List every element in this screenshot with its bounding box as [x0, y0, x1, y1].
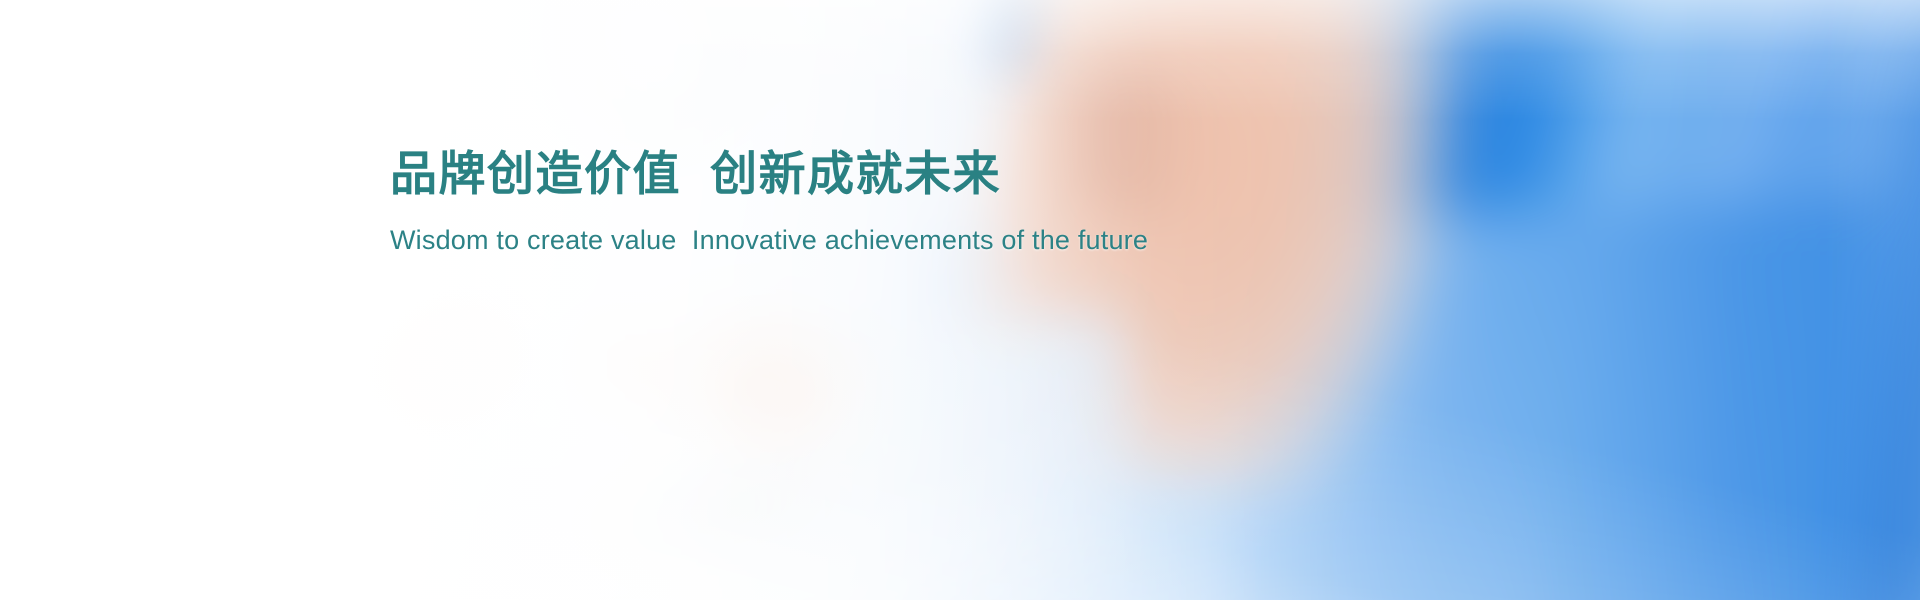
banner-subheadline: Wisdom to create value Innovative achiev…: [390, 201, 1148, 258]
background-photo: [0, 0, 1920, 600]
banner-headline: 品牌创造价值 创新成就未来: [390, 146, 1148, 201]
hero-banner: 品牌创造价值 创新成就未来 Wisdom to create value Inn…: [0, 0, 1920, 600]
banner-copy: 品牌创造价值 创新成就未来 Wisdom to create value Inn…: [390, 146, 1148, 258]
right-hand-shape: [615, 288, 883, 518]
